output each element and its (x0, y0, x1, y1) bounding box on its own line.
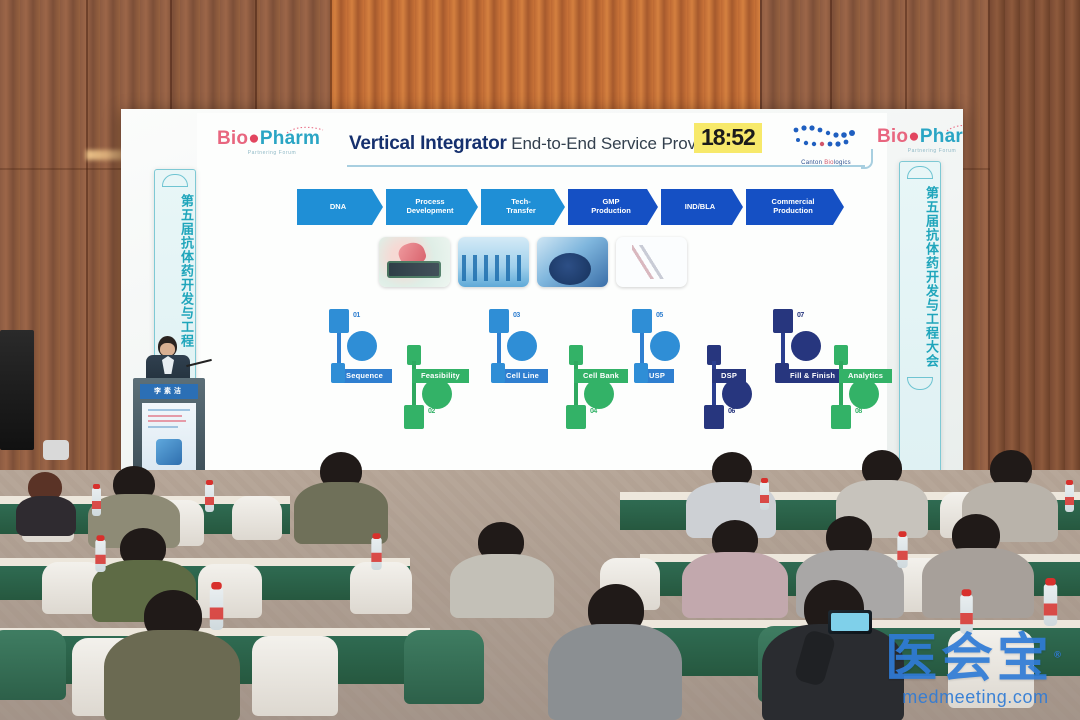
bioreactor-icon (650, 331, 680, 361)
timeline-label-analytics: Analytics (839, 369, 892, 383)
timeline-label-feasibility: Feasibility (412, 369, 469, 383)
slide-title: Vertical Integrator End-to-End Service P… (349, 133, 724, 155)
conference-photo: Bio●Pharm Partnering Forum Vertical Inte… (0, 0, 1080, 720)
process-flow-row: DNA Process Development Tech- Transfer G… (297, 189, 844, 225)
timeline-num-02: 02 (428, 408, 435, 415)
cell-bank-icon (584, 379, 614, 409)
timeline-num-08: 08 (855, 408, 862, 415)
logo-bio-text: Bio (217, 128, 248, 149)
timeline-label-fill-finish: Fill & Finish (781, 369, 844, 383)
canton-biologics-logo: Canton Biologics (782, 122, 870, 166)
logo-swoosh-icon (945, 123, 963, 133)
banner-right-text: 第五届抗体药开发与工程大会 (900, 180, 940, 374)
banner-vertical-right: 第五届抗体药开发与工程大会 (899, 161, 941, 473)
banner-left-text: 第五届抗体药开发与工程 (155, 188, 195, 354)
flow-step-gmp-production[interactable]: GMP Production (568, 189, 658, 225)
timer-value: 18:52 (701, 124, 755, 150)
wall-right-panel (990, 0, 1080, 470)
flow-step-tech-transfer[interactable]: Tech- Transfer (481, 189, 565, 225)
timeline-num-05: 05 (656, 312, 663, 319)
slide-title-bold: Vertical Integrator (349, 133, 507, 154)
photo-vials (616, 237, 687, 287)
dna-dots-icon (782, 122, 870, 156)
timeline-label-dsp: DSP (712, 369, 746, 383)
phone-icon (828, 610, 872, 634)
watermark-url: medmeeting.com (885, 687, 1066, 708)
watermark-registered-mark: ® (1053, 651, 1066, 661)
camera-light (43, 440, 69, 460)
presentation-slide: Bio●Pharm Partnering Forum Vertical Inte… (197, 113, 887, 473)
logo-tagline: Partnering Forum (217, 150, 327, 156)
watermark-brand: 医会宝® (885, 633, 1066, 685)
timeline-num-07: 07 (797, 312, 804, 319)
slide-title-light: End-to-End Service Provider (511, 134, 724, 153)
cell-icon (507, 331, 537, 361)
flow-step-dna[interactable]: DNA (297, 189, 383, 225)
timeline-num-01: 01 (353, 312, 360, 319)
countdown-timer: 18:52 (694, 123, 762, 153)
photo-centrifuge (537, 237, 608, 287)
flask-icon (422, 379, 452, 409)
canton-logo-text: Canton Biologics (782, 160, 870, 166)
flow-step-commercial-production[interactable]: Commercial Production (746, 189, 844, 225)
photo-bioreactor-suite (458, 237, 529, 287)
pa-speaker-stack (0, 330, 34, 450)
biopharm-logo-left: Bio●Pharm Partnering Forum (217, 129, 327, 165)
vial-icon (791, 331, 821, 361)
timeline-num-04: 04 (590, 408, 597, 415)
presenter (146, 336, 190, 384)
dna-icon (347, 331, 377, 361)
flow-step-process-development[interactable]: Process Development (386, 189, 478, 225)
timeline-num-06: 06 (728, 408, 735, 415)
timeline-label-cell-bank: Cell Bank (574, 369, 628, 383)
podium: 李素洁 (133, 378, 205, 480)
timeline-num-03: 03 (513, 312, 520, 319)
column-icon (722, 379, 752, 409)
photo-thumbnail-strip (379, 237, 687, 287)
monitor-icon (849, 379, 879, 409)
podium-poster (142, 403, 196, 471)
timeline-label-sequence: Sequence (337, 369, 392, 383)
watermark: 医会宝® medmeeting.com (885, 633, 1066, 708)
photo-pipetting (379, 237, 450, 287)
biopharm-logo-right: Bio●Pharm Partnering Forum (877, 127, 963, 163)
podium-poster-image (156, 439, 182, 465)
logo-swoosh-icon (285, 125, 325, 135)
projection-screen: Bio●Pharm Partnering Forum Vertical Inte… (121, 109, 963, 478)
podium-name-sign: 李素洁 (140, 384, 198, 399)
flow-step-ind-bla[interactable]: IND/BLA (661, 189, 743, 225)
service-timeline: 01 Sequence 02 Feasibility (197, 309, 887, 459)
